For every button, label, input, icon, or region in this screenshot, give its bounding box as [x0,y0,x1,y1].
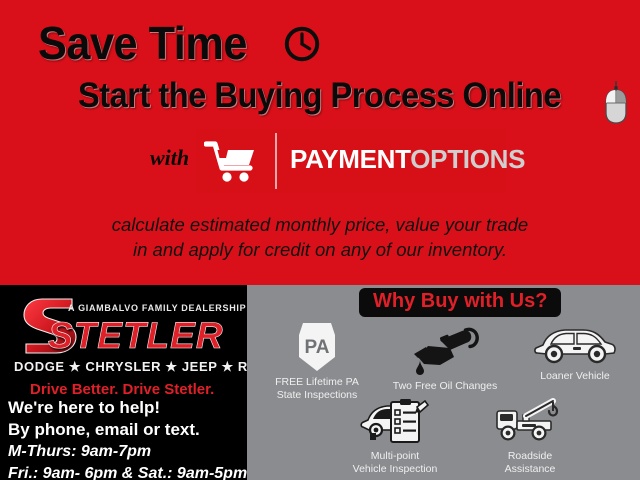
help-line-2: By phone, email or text. [8,419,247,441]
clipboard-car-inspection-icon [359,397,431,447]
perk-oil-changes: Two Free Oil Changes [375,327,515,393]
perk-road-label-2: Assistance [465,463,595,476]
hero-red-banner: Save Time Start the Buying Process Onlin… [0,0,640,283]
help-line-1: We're here to help! [8,397,247,419]
dealer-info-panel: A GIAMBALVO FAMILY DEALERSHIP STETLER DO… [0,285,247,480]
perk-loaner-vehicle: Loaner Vehicle [515,323,635,383]
perk-multipoint-inspection: Multi-point Vehicle Inspection [325,397,465,475]
dealer-brands: DODGE ★ CHRYSLER ★ JEEP ★ RAM [14,359,269,375]
hours-weekday: M-Thurs: 9am-7pm [8,441,247,463]
why-buy-panel: Why Buy with Us? PA FREE Lifetime PA Sta… [247,285,640,480]
hours-weekend: Fri.: 9am- 6pm & Sat.: 9am-5pm [8,463,247,480]
subtext-line-1: calculate estimated monthly price, value… [0,212,640,237]
payment-options-badge: PAYMENTOPTIONS [196,129,506,193]
dealer-family-tagline: A GIAMBALVO FAMILY DEALERSHIP [68,303,246,313]
dealership-ad-banner: Save Time Start the Buying Process Onlin… [0,0,640,480]
why-buy-heading: Why Buy with Us? [359,288,561,317]
shopping-cart-icon [204,139,260,183]
hero-subtext: calculate estimated monthly price, value… [0,212,640,262]
perk-oil-label-1: Two Free Oil Changes [375,380,515,393]
perk-roadside-assistance: Roadside Assistance [465,397,595,475]
perk-multi-label-2: Vehicle Inspection [325,463,465,476]
tow-truck-icon [493,397,567,447]
perk-pa-label-1: FREE Lifetime PA [257,376,377,389]
headline-save-time: Save Time [38,16,247,70]
clock-icon [283,25,321,63]
headline-start-buying-online: Start the Buying Process Online [78,76,561,116]
perk-multi-label-1: Multi-point [325,450,465,463]
wordmark-payment: PAYMENT [290,144,410,174]
svg-text:PA: PA [305,337,330,358]
car-side-icon [533,323,617,367]
perk-road-label-1: Roadside [465,450,595,463]
wordmark-options: OPTIONS [410,144,525,174]
subtext-line-2: in and apply for credit on any of our in… [0,237,640,262]
with-label: with [150,145,189,171]
dealer-name: STETLER [48,315,224,357]
stetler-logo: A GIAMBALVO FAMILY DEALERSHIP STETLER DO… [0,289,247,389]
oil-can-icon [410,327,480,377]
contact-hours-block: We're here to help! By phone, email or t… [8,397,247,480]
payment-options-row: with PAYMENTOPTIONS [0,132,640,192]
computer-mouse-icon [604,78,628,124]
pa-keystone-icon: PA [289,321,345,373]
perk-loaner-label-1: Loaner Vehicle [515,370,635,383]
perk-pa-inspections: PA FREE Lifetime PA State Inspections [257,321,377,401]
dealer-slogan: Drive Better. Drive Stetler. [30,381,214,398]
payment-options-wordmark: PAYMENTOPTIONS [290,144,525,175]
badge-divider [275,133,277,189]
